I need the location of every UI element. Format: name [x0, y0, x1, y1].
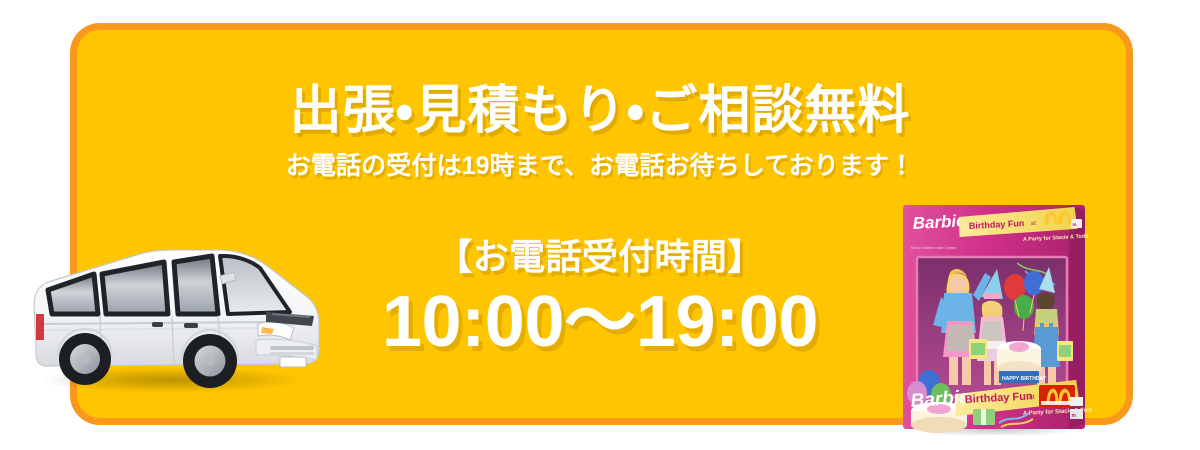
svg-text:at: at — [1029, 394, 1035, 401]
toy-cake-inside: HAPPY BIRTHDAY — [997, 341, 1047, 383]
van-illustration — [22, 228, 322, 398]
van-door-handle — [152, 322, 163, 327]
van-license-plate — [280, 357, 306, 367]
van-front-wheel — [183, 334, 237, 388]
van-rear-wheel — [59, 333, 111, 385]
van-door-window — [174, 256, 218, 314]
svg-text:at: at — [1031, 221, 1037, 227]
mcdonalds-logo-icon — [1039, 385, 1075, 407]
svg-text:Not for children under 3 years: Not for children under 3 years — [911, 246, 956, 250]
svg-text:m: m — [1073, 222, 1077, 227]
svg-text:Barbie: Barbie — [912, 211, 966, 233]
van-side-window — [102, 262, 168, 314]
toy-box-illustration: Barbie Birthday Fun at A Party for Staci… — [897, 201, 1092, 435]
promo-banner: Barbie Birthday Fun at A Party for Staci… — [0, 0, 1200, 450]
svg-text:Barbie: Barbie — [910, 387, 971, 412]
van-taillight — [36, 314, 44, 340]
svg-text:m: m — [1072, 413, 1077, 419]
svg-text:HAPPY BIRTHDAY: HAPPY BIRTHDAY — [1002, 376, 1047, 382]
